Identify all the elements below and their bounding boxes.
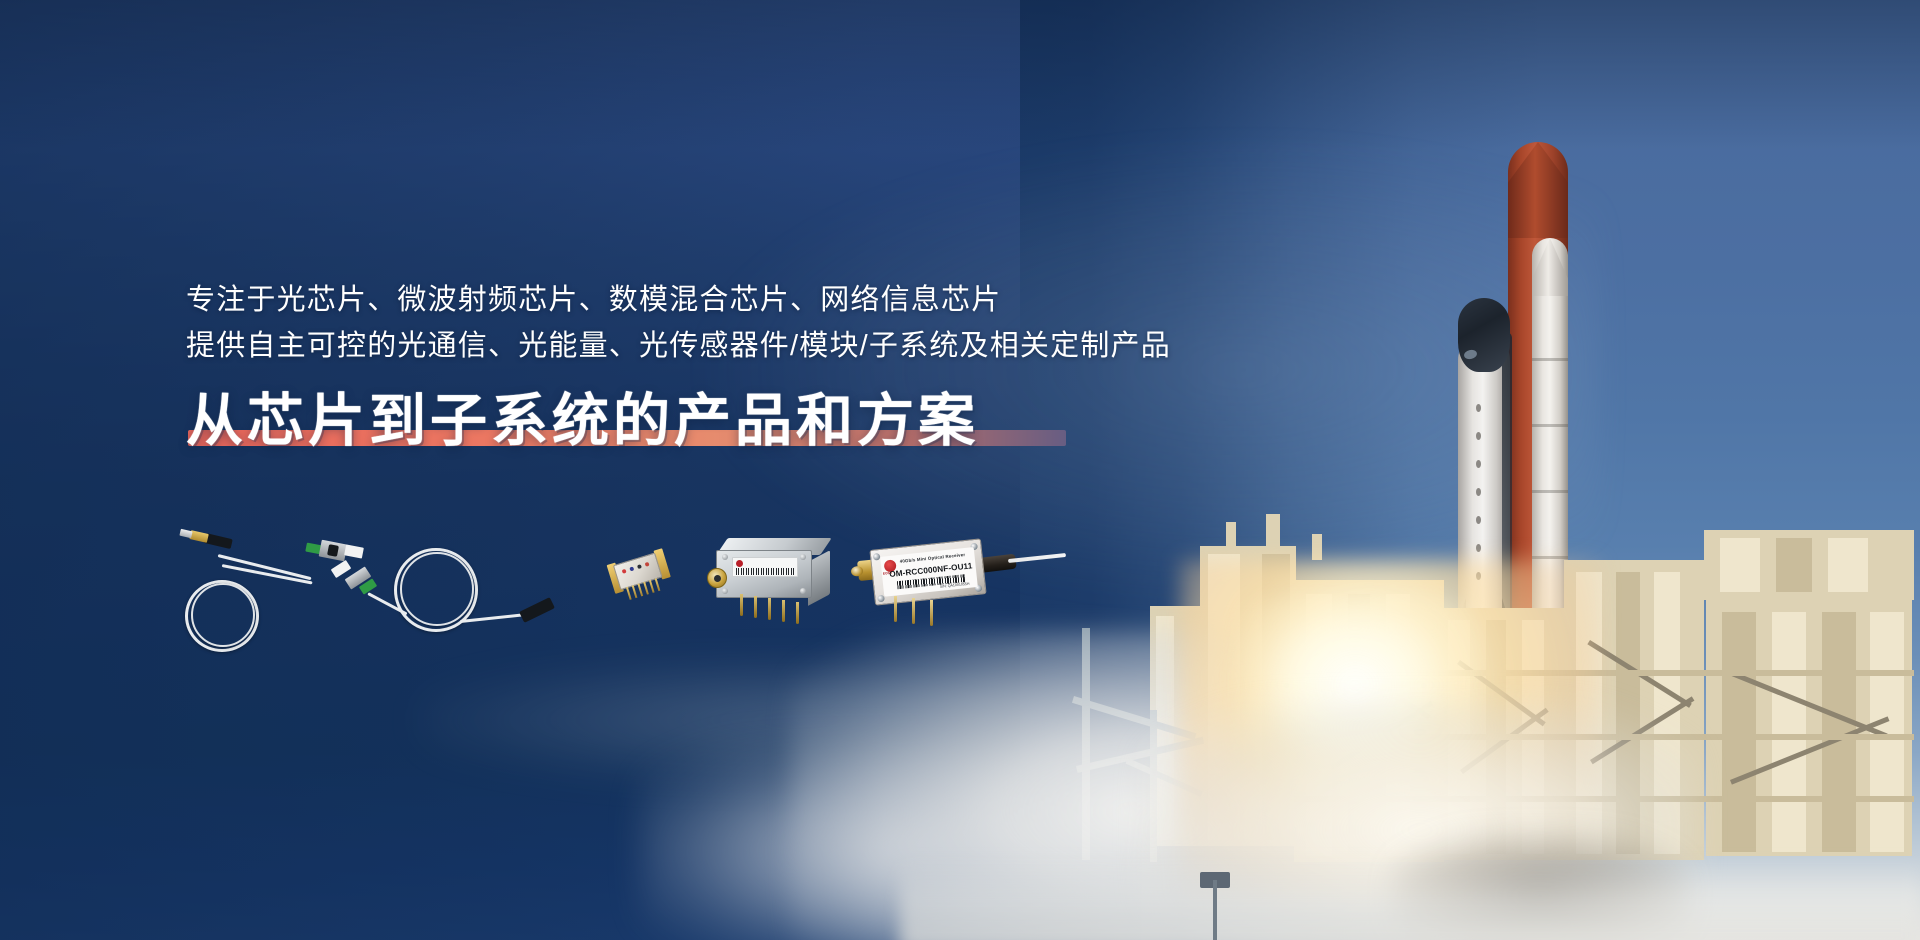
hero-copy-block: 专注于光芯片、微波射频芯片、数模混合芯片、网络信息芯片 提供自主可控的光通信、光… (186, 278, 1286, 455)
hero-subline-2: 提供自主可控的光通信、光能量、光传感器件/模块/子系统及相关定制产品 (186, 324, 1286, 370)
sma-connector (707, 568, 727, 588)
product-rf-metal-module (716, 538, 832, 610)
rf-module-label (732, 557, 798, 577)
hero-headline-wrap: 从芯片到子系统的产品和方案 (186, 388, 979, 455)
receiver-product-label: EOSIT 40Gb/s Mini Optical Receiver OM-RC… (880, 547, 978, 597)
product-image-strip: EOSIT 40Gb/s Mini Optical Receiver OM-RC… (160, 520, 920, 680)
orbiter-nose-cone (1458, 298, 1510, 372)
receiver-housing: EOSIT 40Gb/s Mini Optical Receiver OM-RC… (869, 538, 986, 605)
butterfly-laser-package (607, 545, 670, 599)
hero-subline-1: 专注于光芯片、微波射频芯片、数模混合芯片、网络信息芯片 (186, 278, 1286, 324)
hero-banner: 专注于光芯片、微波射频芯片、数模混合芯片、网络信息芯片 提供自主可控的光通信、光… (0, 0, 1920, 940)
ground-smoke (900, 860, 1920, 940)
floodlight-post (1213, 880, 1217, 940)
hero-headline: 从芯片到子系统的产品和方案 (186, 388, 979, 455)
product-optical-receiver-module: EOSIT 40Gb/s Mini Optical Receiver OM-RC… (872, 534, 1052, 618)
